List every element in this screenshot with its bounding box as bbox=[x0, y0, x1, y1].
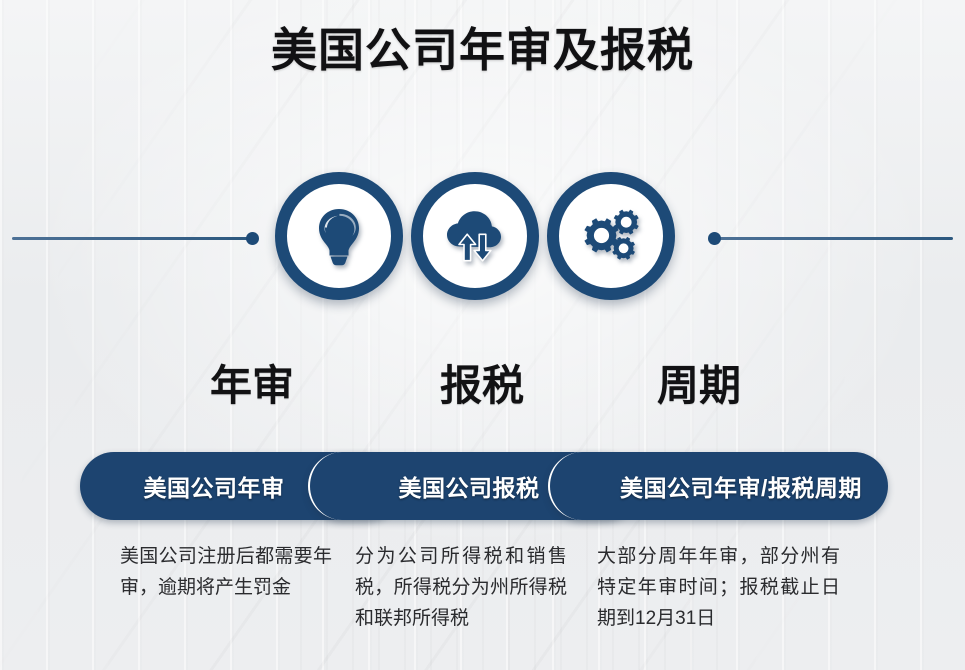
cloud-sync-icon bbox=[442, 206, 508, 266]
banner-group: 美国公司年审 美国公司报税 美国公司年审/报税周期 bbox=[80, 452, 888, 520]
body-text-cycle: 大部分周年年审，部分州有特定年审时间；报税截止日期到12月31日 bbox=[597, 541, 840, 634]
section-headings: 年审 报税 周期 bbox=[0, 360, 965, 416]
section-heading-tax-filing: 报税 bbox=[440, 360, 524, 412]
page-title: 美国公司年审及报税 bbox=[0, 18, 965, 82]
section-heading-cycle: 周期 bbox=[657, 360, 741, 412]
body-text-columns: 美国公司注册后都需要年审，逾期将产生罚金 分为公司所得税和销售税，所得税分为州所… bbox=[0, 541, 965, 661]
lightbulb-icon bbox=[310, 205, 368, 267]
icon-circle-annual-review bbox=[275, 172, 403, 300]
body-text-annual-review: 美国公司注册后都需要年审，逾期将产生罚金 bbox=[120, 541, 332, 603]
icon-circle-tax-filing bbox=[411, 172, 539, 300]
icon-circle-group bbox=[0, 172, 965, 304]
gears-icon bbox=[579, 207, 643, 265]
body-text-tax-filing: 分为公司所得税和销售税，所得税分为州所得税和联邦所得税 bbox=[355, 541, 567, 634]
icon-circle-cycle bbox=[547, 172, 675, 300]
banner-label-cycle: 美国公司年审/报税周期 bbox=[576, 469, 862, 503]
banner-cycle: 美国公司年审/报税周期 bbox=[548, 452, 888, 520]
infographic-poster: 美国公司年审及报税 bbox=[0, 0, 965, 670]
section-heading-annual-review: 年审 bbox=[210, 360, 294, 412]
